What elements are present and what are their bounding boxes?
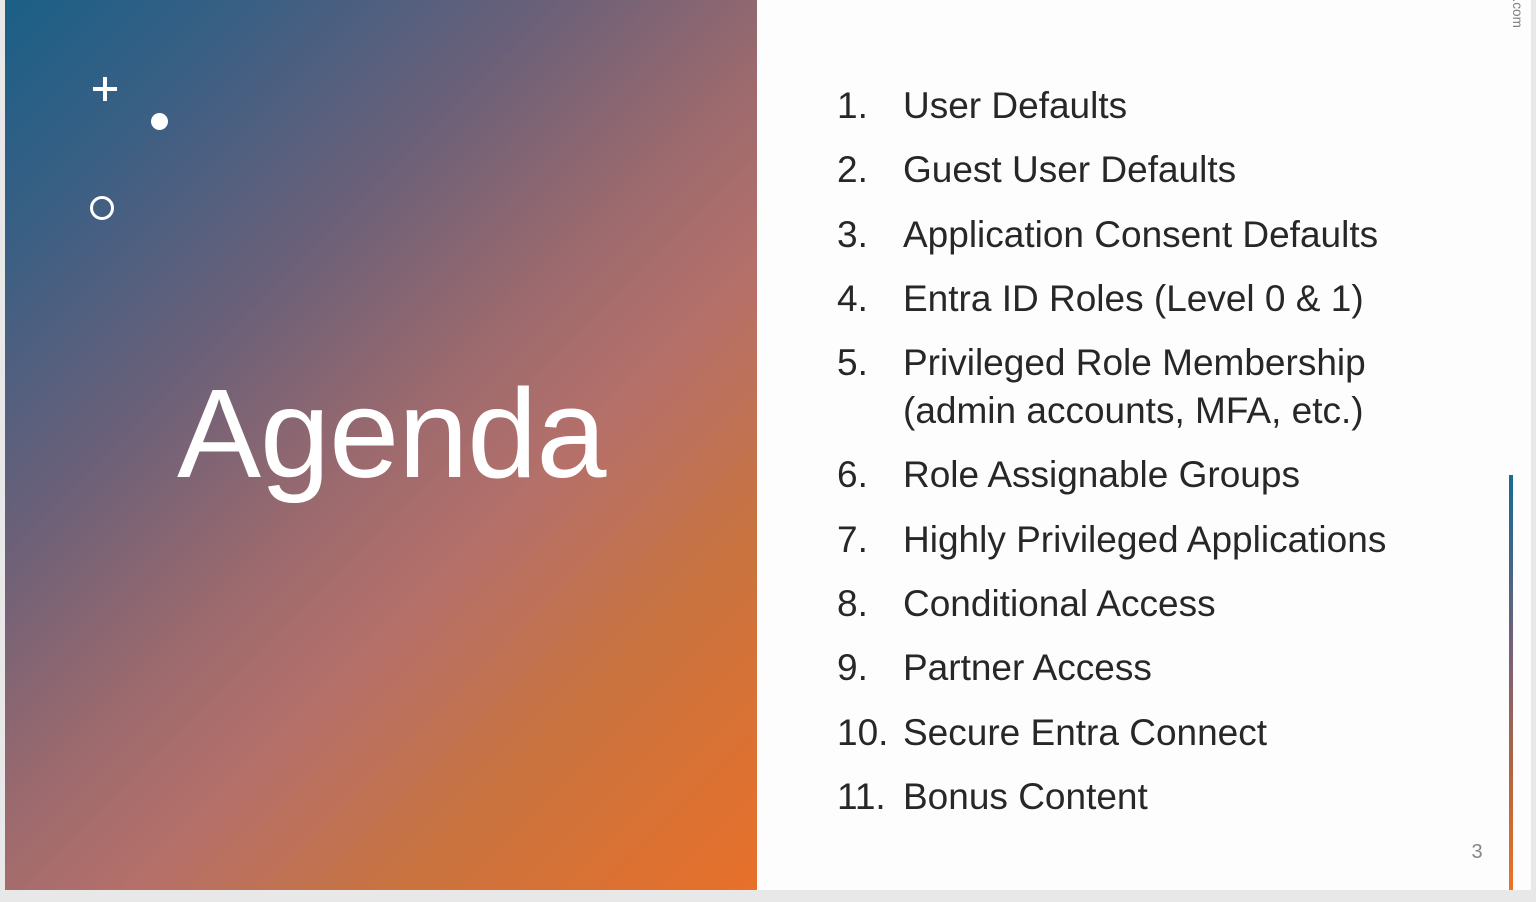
slide-canvas: Agenda 1. User Defaults 2. Guest User De…	[5, 0, 1531, 890]
list-item-number: 2.	[837, 146, 903, 193]
list-item: 11. Bonus Content	[837, 773, 1437, 820]
list-item-number: 3.	[837, 211, 903, 258]
list-item: 2. Guest User Defaults	[837, 146, 1437, 193]
hollow-circle-icon	[90, 196, 114, 220]
list-item: 1. User Defaults	[837, 82, 1437, 129]
presenter-credit: Sean Metcalf | @PyroTek3 | sean.metcalf@…	[1510, 0, 1525, 28]
list-item-number: 10.	[837, 709, 903, 756]
list-item-label: Secure Entra Connect	[903, 709, 1437, 756]
list-item: 3. Application Consent Defaults	[837, 211, 1437, 258]
filled-dot-icon	[151, 113, 168, 130]
list-item-number: 9.	[837, 644, 903, 691]
list-item: 8. Conditional Access	[837, 580, 1437, 627]
slide-title: Agenda	[177, 368, 605, 500]
list-item-number: 8.	[837, 580, 903, 627]
list-item-number: 6.	[837, 451, 903, 498]
list-item-label: Conditional Access	[903, 580, 1437, 627]
list-item-number: 7.	[837, 516, 903, 563]
list-item-label: Guest User Defaults	[903, 146, 1437, 193]
list-item-number: 5.	[837, 339, 903, 386]
accent-bar	[1509, 475, 1513, 890]
list-item: 6. Role Assignable Groups	[837, 451, 1437, 498]
plus-mark-icon	[93, 77, 117, 101]
list-item: 4. Entra ID Roles (Level 0 & 1)	[837, 275, 1437, 322]
list-item-label: Highly Privileged Applications	[903, 516, 1437, 563]
list-item-label: Privileged Role Membership (admin accoun…	[903, 339, 1437, 434]
list-item-label: Application Consent Defaults	[903, 211, 1437, 258]
list-item: 9. Partner Access	[837, 644, 1437, 691]
gradient-title-panel: Agenda	[5, 0, 757, 890]
page-number: 3	[1457, 841, 1497, 864]
list-item: 10. Secure Entra Connect	[837, 709, 1437, 756]
list-item: 7. Highly Privileged Applications	[837, 516, 1437, 563]
list-item: 5. Privileged Role Membership (admin acc…	[837, 339, 1437, 434]
list-item-number: 1.	[837, 82, 903, 129]
list-item-label: Partner Access	[903, 644, 1437, 691]
list-item-number: 11.	[837, 773, 903, 820]
list-item-label: Role Assignable Groups	[903, 451, 1437, 498]
list-item-number: 4.	[837, 275, 903, 322]
list-item-label: Entra ID Roles (Level 0 & 1)	[903, 275, 1437, 322]
agenda-list: 1. User Defaults 2. Guest User Defaults …	[837, 82, 1437, 837]
list-item-label: Bonus Content	[903, 773, 1437, 820]
list-item-label: User Defaults	[903, 82, 1437, 129]
